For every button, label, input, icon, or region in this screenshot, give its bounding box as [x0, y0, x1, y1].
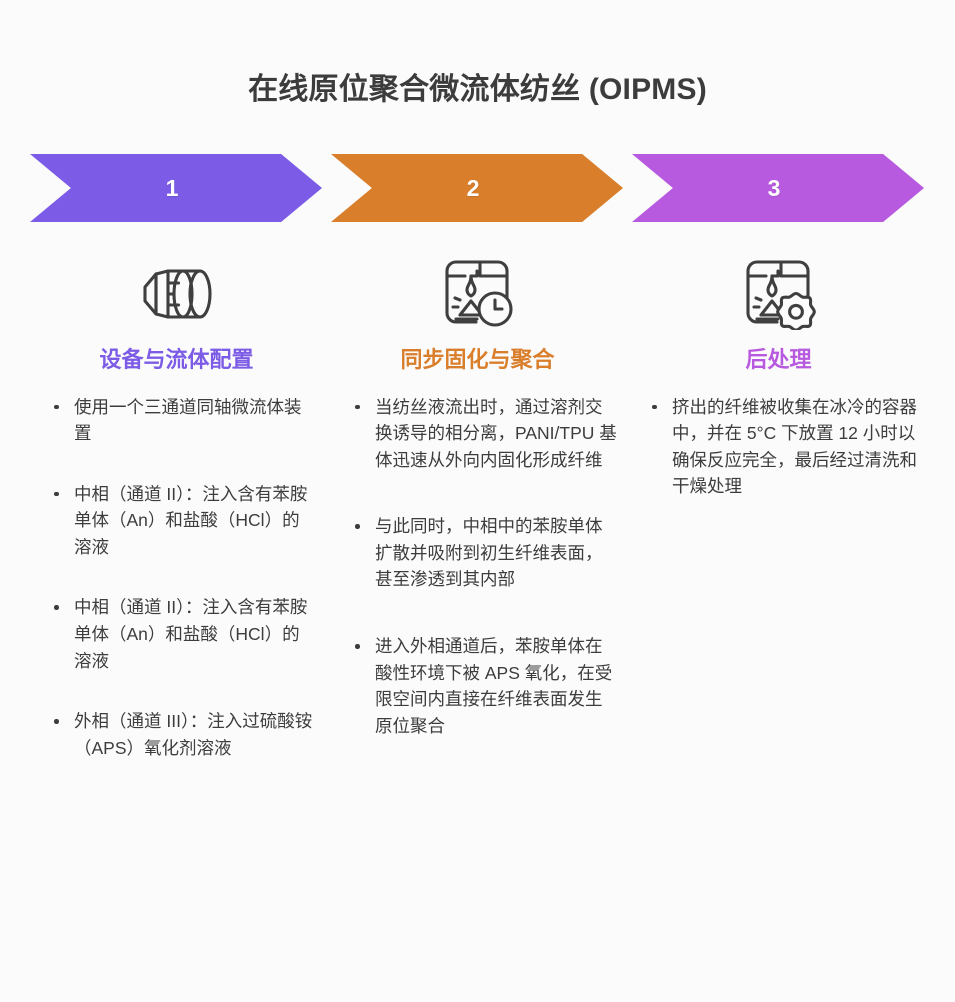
step-banner-3: 3	[632, 154, 925, 222]
step-heading-1: 设备与流体配置	[30, 346, 323, 374]
step-column-3: 3	[628, 154, 929, 500]
steps-container: 1 设备与流体配置	[0, 154, 955, 779]
step-number-1: 1	[166, 175, 179, 202]
list-item: 与此同时，中相中的苯胺单体扩散并吸附到初生纤维表面，甚至渗透到其内部	[349, 513, 618, 593]
list-item: 外相（通道 III）：注入过硫酸铵（APS）氧化剂溶液	[48, 708, 317, 761]
list-item: 中相（通道 II）：注入含有苯胺单体（An）和盐酸（HCl）的溶液	[48, 481, 317, 561]
step-number-3: 3	[768, 175, 781, 202]
chevron-shape-2: 2	[331, 154, 623, 222]
step-heading-2: 同步固化与聚合	[331, 346, 624, 374]
chevron-shape-1: 1	[30, 154, 322, 222]
coaxial-nozzle-icon	[30, 248, 323, 340]
page-title: 在线原位聚合微流体纺丝 (OIPMS)	[0, 0, 955, 108]
step-heading-3: 后处理	[632, 346, 925, 374]
step-bullet-list-3: 挤出的纤维被收集在冰冷的容器中，并在 5°C 下放置 12 小时以确保反应完全，…	[632, 394, 925, 500]
chevron-shape-3: 3	[632, 154, 924, 222]
step-banner-1: 1	[30, 154, 323, 222]
step-banner-2: 2	[331, 154, 624, 222]
step-column-2: 2	[327, 154, 628, 779]
step-number-2: 2	[467, 175, 480, 202]
extrusion-timer-icon	[331, 248, 624, 340]
step-column-1: 1 设备与流体配置	[26, 154, 327, 761]
list-item: 挤出的纤维被收集在冰冷的容器中，并在 5°C 下放置 12 小时以确保反应完全，…	[646, 394, 919, 500]
infographic-page: 在线原位聚合微流体纺丝 (OIPMS) 1	[0, 0, 955, 1002]
step-bullet-list-2: 当纺丝液流出时，通过溶剂交换诱导的相分离，PANI/TPU 基体迅速从外向内固化…	[331, 394, 624, 740]
list-item: 当纺丝液流出时，通过溶剂交换诱导的相分离，PANI/TPU 基体迅速从外向内固化…	[349, 394, 618, 474]
list-item: 进入外相通道后，苯胺单体在酸性环境下被 APS 氧化，在受限空间内直接在纤维表面…	[349, 633, 618, 739]
extrusion-settings-icon	[632, 248, 925, 340]
list-item: 中相（通道 II）：注入含有苯胺单体（An）和盐酸（HCl）的溶液	[48, 594, 317, 674]
list-item: 使用一个三通道同轴微流体装置	[48, 394, 317, 447]
step-bullet-list-1: 使用一个三通道同轴微流体装置 中相（通道 II）：注入含有苯胺单体（An）和盐酸…	[30, 394, 323, 762]
